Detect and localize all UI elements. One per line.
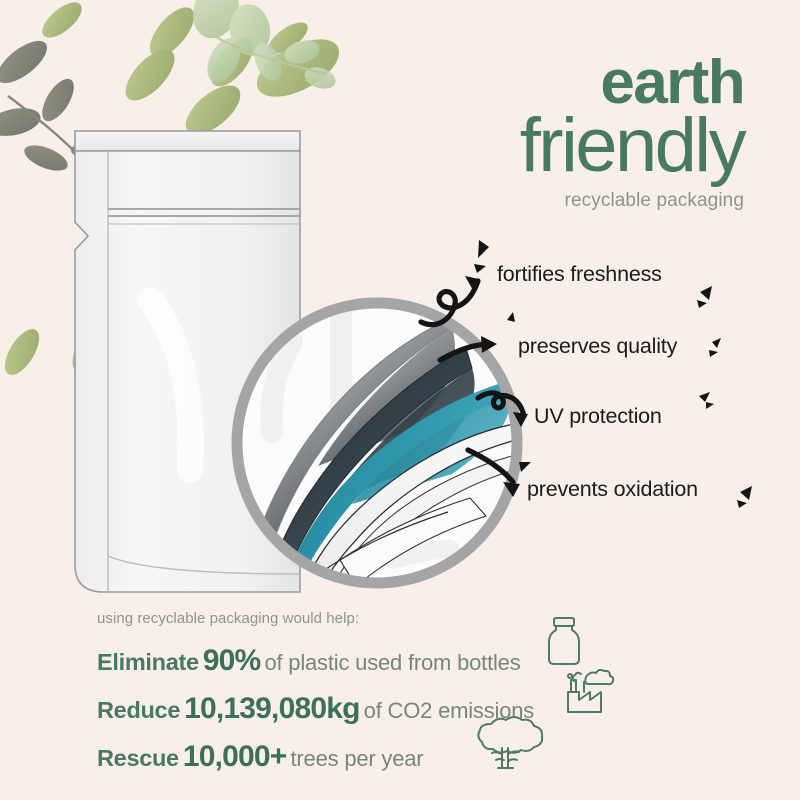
stat-row: Rescue10,000+trees per year <box>97 742 423 772</box>
feature-label-preserves-quality: preserves quality <box>518 334 677 359</box>
bottle-icon <box>543 615 585 667</box>
tree-icon <box>458 714 552 776</box>
infographic-poster: earth friendly recyclable packaging fort… <box>0 0 800 800</box>
stat-verb: Rescue <box>97 745 179 771</box>
stat-row: Eliminate90%of plastic used from bottles <box>97 646 521 676</box>
stat-verb: Reduce <box>97 697 180 723</box>
headline-subtitle: recyclable packaging <box>520 191 744 210</box>
feature-label-uv-protection: UV protection <box>534 404 662 429</box>
stat-verb: Eliminate <box>97 649 199 675</box>
headline-block: earth friendly recyclable packaging <box>520 52 744 210</box>
stat-tail: trees per year <box>291 746 424 771</box>
stat-figure: 10,000+ <box>183 740 287 773</box>
headline-line-2: friendly <box>520 108 744 184</box>
stat-figure: 10,139,080kg <box>184 692 360 725</box>
feature-label-prevents-oxidation: prevents oxidation <box>527 477 698 502</box>
factory-icon <box>560 662 616 716</box>
stat-figure: 90% <box>203 644 261 677</box>
stat-tail: of plastic used from bottles <box>264 650 520 675</box>
stats-intro-text: using recyclable packaging would help: <box>97 610 359 627</box>
feature-label-fortifies-freshness: fortifies freshness <box>497 262 662 287</box>
